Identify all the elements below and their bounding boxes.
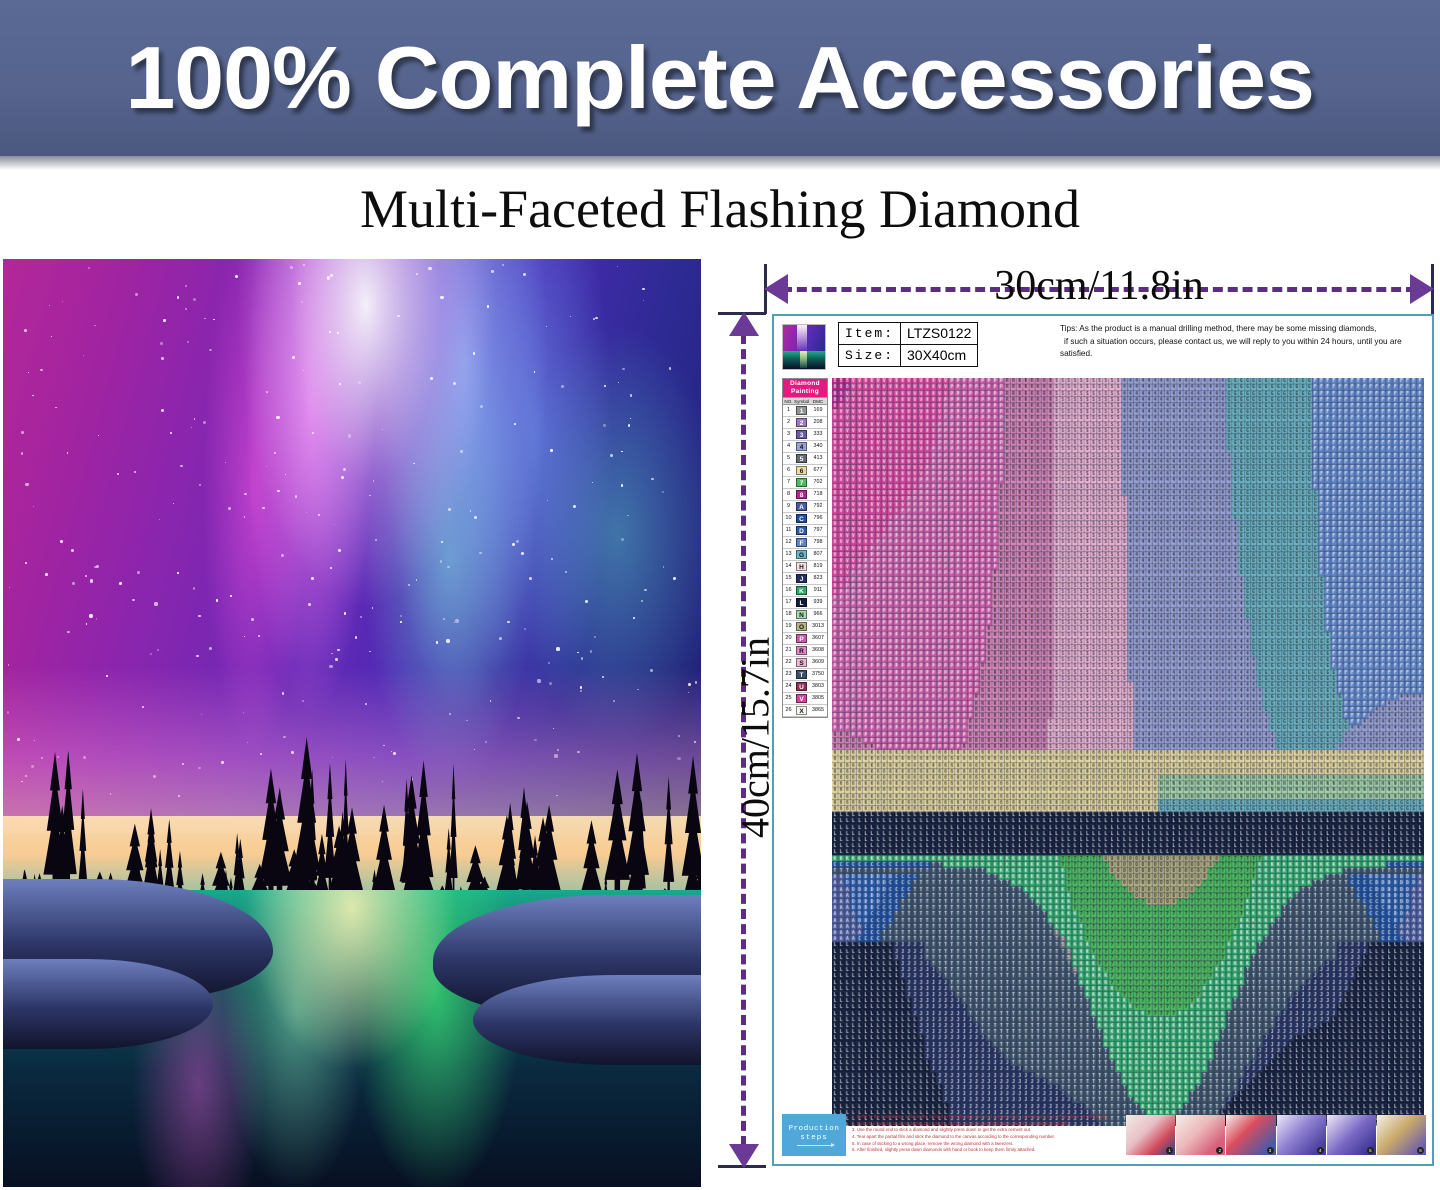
legend-row-number: 18: [783, 609, 794, 620]
star: [33, 506, 34, 507]
legend-row-number: 2: [783, 417, 794, 428]
thumbnail-beam: [800, 351, 807, 369]
star: [502, 264, 504, 266]
tips-line-2: if such a situation occurs, please conta…: [1060, 336, 1422, 349]
star: [480, 405, 483, 408]
legend-row-number: 8: [783, 489, 794, 500]
legend-row-dmc: 807: [809, 549, 827, 560]
star: [546, 326, 547, 327]
legend-row: 44340: [783, 441, 827, 453]
production-steps-strip: Production steps 1. Refer to the compari…: [782, 1114, 1426, 1158]
star: [604, 385, 606, 387]
star: [447, 566, 449, 568]
legend-row: 26X3865: [783, 705, 827, 717]
star: [413, 463, 414, 464]
star: [524, 628, 526, 630]
star: [408, 584, 410, 586]
legend-row-symbol: U: [794, 681, 809, 692]
legend-row-dmc: 208: [809, 417, 827, 428]
tips-line-3: satisfied.: [1060, 348, 1422, 361]
star: [430, 377, 433, 380]
production-step-number: 4: [1317, 1147, 1324, 1154]
star: [529, 577, 532, 580]
star: [561, 385, 564, 388]
legend-row-symbol: 5: [794, 453, 809, 464]
star: [523, 273, 526, 276]
production-step-photo: 3: [1226, 1115, 1275, 1155]
legend-row: 9A792: [783, 501, 827, 513]
legend-row-dmc: 911: [809, 585, 827, 596]
star: [160, 342, 163, 345]
star: [521, 552, 524, 555]
star: [327, 276, 330, 279]
star: [643, 300, 644, 301]
size-value: 30X40cm: [901, 344, 978, 366]
star: [590, 650, 592, 652]
star: [295, 495, 297, 497]
legend-row: 55413: [783, 453, 827, 465]
star: [416, 579, 418, 581]
legend-row-dmc: 819: [809, 561, 827, 572]
legend-row-dmc: 3865: [809, 705, 827, 716]
legend-row: 11D797: [783, 525, 827, 537]
legend-row-symbol: F: [794, 537, 809, 548]
star: [119, 582, 122, 585]
legend-row-number: 16: [783, 585, 794, 596]
star: [642, 288, 644, 290]
star: [45, 573, 48, 576]
legend-row: 77702: [783, 477, 827, 489]
star: [177, 296, 180, 299]
legend-row: 12F798: [783, 537, 827, 549]
star: [594, 636, 596, 638]
star: [94, 325, 95, 326]
star: [312, 432, 315, 435]
star: [669, 367, 671, 369]
header-banner: 100% Complete Accessories: [0, 0, 1440, 156]
legend-row-number: 7: [783, 477, 794, 488]
thumbnail-glow: [797, 325, 806, 352]
star: [225, 462, 226, 463]
production-step-photo: 4: [1277, 1115, 1326, 1155]
legend-row-dmc: 792: [809, 501, 827, 512]
star: [274, 452, 276, 454]
legend-row-dmc: 823: [809, 573, 827, 584]
legend-row-symbol: O: [794, 621, 809, 632]
star: [25, 483, 28, 486]
star: [397, 315, 399, 317]
legend-row-symbol: V: [794, 693, 809, 704]
width-label: 30cm/11.8in: [764, 262, 1434, 310]
legend-row-dmc: 3607: [809, 633, 827, 644]
legend-row-dmc: 340: [809, 441, 827, 452]
star: [446, 639, 449, 642]
star: [157, 649, 159, 651]
star: [573, 505, 576, 508]
legend-row-number: 9: [783, 501, 794, 512]
star: [32, 395, 33, 396]
star: [311, 577, 314, 580]
star: [170, 432, 172, 434]
production-step-photo: 5: [1327, 1115, 1376, 1155]
star: [491, 270, 493, 272]
star: [258, 635, 260, 637]
star: [585, 600, 588, 603]
star: [592, 482, 593, 483]
legend-row-symbol: K: [794, 585, 809, 596]
star: [244, 516, 246, 518]
production-steps-photos: 123456: [1126, 1115, 1426, 1155]
star: [67, 452, 69, 454]
legend-row: 22208: [783, 417, 827, 429]
star: [337, 649, 339, 651]
legend-row-number: 3: [783, 429, 794, 440]
star: [547, 500, 548, 501]
legend-title-line-1: Diamond: [783, 380, 827, 388]
star: [173, 503, 174, 504]
star: [570, 316, 571, 317]
star: [21, 431, 23, 433]
item-info-table: Item: LTZS0122 Size: 30X40cm: [838, 322, 978, 367]
star: [154, 602, 157, 605]
star: [382, 429, 383, 430]
star: [159, 519, 160, 520]
legend-row: 17L939: [783, 597, 827, 609]
star: [28, 372, 29, 373]
star: [441, 541, 442, 542]
legend-row-dmc: 3805: [809, 693, 827, 704]
legend-title-line-2: Painting: [783, 388, 827, 396]
legend-row-symbol: 4: [794, 441, 809, 452]
star: [369, 495, 370, 496]
legend-column-headers: NO.SymbolDMC: [783, 397, 827, 405]
star: [470, 510, 471, 511]
star: [266, 391, 268, 393]
star: [235, 275, 238, 278]
diamond-symbol-grid: [832, 378, 1424, 1126]
legend-row: 21R3608: [783, 645, 827, 657]
star: [209, 647, 212, 650]
star: [550, 449, 553, 452]
star: [85, 575, 87, 577]
legend-row-number: 1: [783, 405, 794, 416]
legend-row-number: 15: [783, 573, 794, 584]
legend-row-number: 10: [783, 513, 794, 524]
star: [551, 558, 553, 560]
banner-title: 100% Complete Accessories: [126, 27, 1315, 129]
star: [603, 424, 605, 426]
star: [8, 664, 9, 665]
legend-row-dmc: 3609: [809, 657, 827, 668]
star: [251, 618, 254, 621]
star: [499, 637, 502, 640]
legend-row: 88718: [783, 489, 827, 501]
legend-row-dmc: 3013: [809, 621, 827, 632]
production-step-photo: 1: [1126, 1115, 1175, 1155]
star: [134, 471, 136, 473]
star: [132, 599, 134, 601]
star: [440, 560, 442, 562]
star: [25, 562, 27, 564]
star: [193, 298, 196, 301]
legend-row-symbol: J: [794, 573, 809, 584]
star: [89, 614, 92, 617]
star: [40, 369, 43, 372]
star: [24, 329, 27, 332]
production-step-number: 6: [1417, 1147, 1424, 1154]
star: [627, 515, 629, 517]
star: [96, 618, 98, 620]
production-step-number: 1: [1166, 1147, 1173, 1154]
item-value: LTZS0122: [901, 323, 978, 345]
star: [298, 282, 301, 285]
star: [621, 538, 624, 541]
color-legend-left: DiamondPaintingNO.SymbolDMC1116922208333…: [782, 378, 828, 718]
star: [400, 615, 402, 617]
arrow-down-icon: [729, 1144, 759, 1168]
legend-row-symbol: 2: [794, 417, 809, 428]
star: [487, 305, 489, 307]
legend-row-number: 14: [783, 561, 794, 572]
star: [460, 450, 463, 453]
star: [448, 508, 451, 511]
height-dimension: 40cm/15.7in: [714, 312, 768, 1168]
star: [565, 571, 567, 573]
production-step-number: 3: [1267, 1147, 1274, 1154]
legend-row-symbol: 3: [794, 429, 809, 440]
star: [163, 319, 165, 321]
legend-row: 18N966: [783, 609, 827, 621]
subtitle-text: Multi-Faceted Flashing Diamond: [360, 178, 1080, 240]
star: [344, 612, 347, 615]
star: [416, 273, 418, 275]
star: [479, 552, 481, 554]
legend-row-number: 21: [783, 645, 794, 656]
star: [177, 572, 179, 574]
star: [180, 465, 183, 468]
star: [338, 549, 341, 552]
legend-row-symbol: N: [794, 609, 809, 620]
star: [98, 435, 99, 436]
star: [292, 356, 295, 359]
star: [318, 514, 320, 516]
legend-row-symbol: X: [794, 705, 809, 716]
legend-row-dmc: 677: [809, 465, 827, 476]
product-thumbnail: [782, 324, 826, 370]
badge-arrow-icon: [797, 1145, 831, 1146]
star: [663, 566, 665, 568]
star: [453, 382, 456, 385]
legend-row-dmc: 796: [809, 513, 827, 524]
legend-row: 15J823: [783, 573, 827, 585]
star: [662, 491, 664, 493]
star: [330, 567, 332, 569]
star: [644, 589, 647, 592]
star: [369, 651, 371, 653]
legend-row-symbol: P: [794, 633, 809, 644]
star: [673, 577, 676, 580]
production-step-photo: 2: [1176, 1115, 1225, 1155]
legend-row-symbol: L: [794, 597, 809, 608]
star: [341, 476, 344, 479]
star: [71, 549, 74, 552]
legend-row-number: 23: [783, 669, 794, 680]
legend-row-dmc: 966: [809, 609, 827, 620]
star: [334, 524, 335, 525]
star: [621, 451, 622, 452]
production-step-number: 5: [1367, 1147, 1374, 1154]
star: [117, 473, 119, 475]
legend-row-number: 20: [783, 633, 794, 644]
legend-row-number: 4: [783, 441, 794, 452]
star: [516, 540, 519, 543]
star: [358, 381, 361, 384]
star: [281, 554, 284, 557]
star: [443, 618, 445, 620]
legend-row: 24U3803: [783, 681, 827, 693]
legend-row-dmc: 3608: [809, 645, 827, 656]
production-step-number: 2: [1216, 1147, 1223, 1154]
star: [266, 466, 267, 467]
star: [277, 490, 280, 493]
star: [67, 631, 69, 633]
star: [630, 394, 633, 397]
star: [228, 507, 231, 510]
star: [290, 266, 293, 269]
star: [454, 622, 455, 623]
item-key: Item:: [839, 323, 901, 345]
legend-row-symbol: 6: [794, 465, 809, 476]
star: [199, 484, 201, 486]
star: [60, 540, 63, 543]
star: [150, 653, 152, 655]
item-row: Item: LTZS0122: [839, 323, 978, 345]
legend-row-dmc: 333: [809, 429, 827, 440]
legend-row-symbol: H: [794, 561, 809, 572]
legend-row-symbol: 1: [794, 405, 809, 416]
aurora-borealis-lake-photo: [3, 259, 701, 1187]
star: [330, 274, 333, 277]
legend-row-number: 12: [783, 537, 794, 548]
star: [262, 507, 264, 509]
star: [641, 600, 643, 602]
star: [331, 653, 332, 654]
star: [213, 319, 214, 320]
star: [455, 619, 458, 622]
legend-row-symbol: D: [794, 525, 809, 536]
star: [577, 652, 579, 654]
star: [135, 293, 138, 296]
legend-row-dmc: 413: [809, 453, 827, 464]
legend-row-number: 19: [783, 621, 794, 632]
star: [191, 427, 192, 428]
legend-column-header: DMC: [809, 398, 827, 404]
star: [198, 615, 201, 618]
legend-row-number: 17: [783, 597, 794, 608]
star: [196, 655, 199, 658]
star: [21, 452, 23, 454]
star: [303, 370, 305, 372]
star: [628, 424, 631, 427]
star: [512, 543, 515, 546]
star: [507, 621, 509, 623]
size-row: Size: 30X40cm: [839, 344, 978, 366]
star: [581, 657, 584, 660]
legend-column-header: Symbol: [794, 398, 809, 404]
star: [610, 454, 613, 457]
star: [96, 565, 99, 568]
subtitle-row: Multi-Faceted Flashing Diamond: [0, 168, 1440, 250]
star: [621, 484, 623, 486]
star: [534, 371, 535, 372]
star: [375, 539, 378, 542]
legend-row-number: 25: [783, 693, 794, 704]
star: [630, 418, 631, 419]
star: [622, 368, 624, 370]
star: [193, 587, 195, 589]
star: [55, 407, 56, 408]
star: [161, 409, 164, 412]
star: [187, 341, 190, 344]
legend-row: 10C796: [783, 513, 827, 525]
star: [633, 617, 635, 619]
star: [62, 301, 64, 303]
star: [306, 512, 307, 513]
legend-row: 19O3013: [783, 621, 827, 633]
width-dimension: 30cm/11.8in: [764, 262, 1434, 314]
star: [651, 478, 654, 481]
star: [355, 636, 357, 638]
legend-title: DiamondPainting: [783, 379, 827, 397]
legend-row: 66677: [783, 465, 827, 477]
legend-row-symbol: 8: [794, 489, 809, 500]
legend-row-dmc: 718: [809, 489, 827, 500]
star: [209, 349, 212, 352]
canvas-sheet: Item: LTZS0122 Size: 30X40cm Tips: As th…: [772, 314, 1434, 1166]
star: [301, 301, 303, 303]
legend-row: 23T3750: [783, 669, 827, 681]
star: [244, 493, 246, 495]
legend-row-number: 26: [783, 705, 794, 716]
legend-row-number: 22: [783, 657, 794, 668]
star: [137, 571, 140, 574]
star: [51, 336, 53, 338]
star: [474, 516, 477, 519]
legend-row-symbol: S: [794, 657, 809, 668]
star: [185, 308, 187, 310]
legend-row: 11169: [783, 405, 827, 417]
star: [285, 474, 286, 475]
legend-column-header: NO.: [783, 398, 794, 404]
star: [216, 599, 219, 602]
legend-row-symbol: 7: [794, 477, 809, 488]
badge-line-2: steps: [800, 1134, 828, 1142]
production-step-photo: 6: [1377, 1115, 1426, 1155]
size-key: Size:: [839, 344, 901, 366]
legend-row: 25V3805: [783, 693, 827, 705]
star: [428, 267, 431, 270]
star: [593, 318, 595, 320]
star: [348, 434, 351, 437]
tips-line-1: Tips: As the product is a manual drillin…: [1060, 323, 1422, 336]
legend-row: 14H819: [783, 561, 827, 573]
star: [618, 382, 619, 383]
star: [72, 582, 75, 585]
legend-row: 33333: [783, 429, 827, 441]
legend-row-dmc: 939: [809, 597, 827, 608]
legend-row-symbol: G: [794, 549, 809, 560]
legend-row-dmc: 3803: [809, 681, 827, 692]
